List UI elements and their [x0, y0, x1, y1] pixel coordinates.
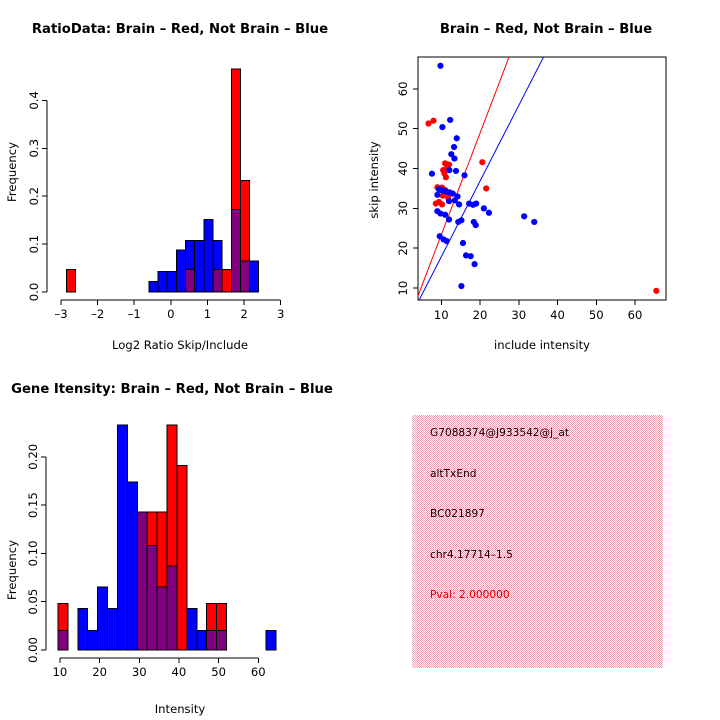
info-event-type: altTxEnd [430, 468, 476, 480]
info-accession: BC021897 [430, 508, 485, 520]
gene-histogram-title: Gene Itensity: Brain – Red, Not Brain – … [11, 382, 333, 397]
figure-canvas: RatioData: Brain – Red, Not Brain – Blue… [0, 0, 720, 720]
scatter-point [653, 288, 659, 294]
scatter-point [451, 144, 457, 150]
gene-histogram-ylabel: Frequency [5, 540, 19, 600]
panel-scatter: Brain – Red, Not Brain – Blue 1020304050… [360, 0, 720, 360]
y-axis-tick-label: 0.10 [26, 540, 40, 566]
y-axis-tick-label: 40 [396, 161, 410, 176]
histogram-bar [177, 466, 187, 650]
scatter-point [479, 159, 485, 165]
histogram-bar [157, 512, 167, 587]
scatter-point [456, 201, 462, 207]
histogram-bar-overlap [157, 587, 167, 650]
histogram-bar [108, 608, 118, 650]
histogram-bar-overlap [147, 546, 157, 650]
x-axis-tick-label: 0 [167, 307, 174, 321]
x-axis-tick-label: 40 [550, 308, 565, 322]
histogram-bar-overlap [217, 631, 227, 650]
scatter-point [481, 205, 487, 211]
x-axis-tick-label: 3 [277, 307, 284, 321]
histogram-bar [222, 270, 231, 292]
histogram-bar [204, 220, 213, 292]
histogram-bar [195, 240, 204, 292]
scatter-points [425, 63, 659, 294]
scatter-point [446, 161, 452, 167]
info-panel-background [412, 415, 663, 668]
x-axis-tick-label: 40 [172, 665, 187, 679]
x-axis-tick-label: 10 [434, 308, 449, 322]
histogram-bar-overlap [185, 270, 194, 292]
x-axis-tick-label: 30 [132, 665, 147, 679]
scatter-point [437, 63, 443, 69]
scatter-point [460, 240, 466, 246]
x-axis-tick-label: 30 [511, 308, 526, 322]
scatter-point [444, 238, 450, 244]
histogram-bar-overlap [231, 210, 240, 292]
scatter-point [446, 167, 452, 173]
histogram-bar [149, 282, 158, 292]
histogram-bar [231, 69, 240, 209]
y-axis-tick-label: 0.15 [26, 492, 40, 518]
y-axis-tick-label: 0.2 [27, 187, 41, 205]
scatter-point [451, 155, 457, 161]
scatter-point [446, 216, 452, 222]
y-axis-tick-label: 0.3 [27, 139, 41, 157]
histogram-bar [158, 271, 167, 292]
scatter-point [471, 261, 477, 267]
gene-histogram-xlabel: Intensity [155, 702, 206, 716]
scatter-point [434, 192, 440, 198]
scatter-plot-frame [418, 57, 666, 300]
brain-fit-line [416, 57, 509, 300]
x-axis-tick-label: 20 [92, 665, 107, 679]
y-axis-tick-label: 0.05 [26, 589, 40, 615]
scatter-point [473, 200, 479, 206]
histogram-bar [187, 608, 197, 650]
info-pval: Pval: 2.000000 [430, 589, 510, 601]
histogram-bar [127, 482, 137, 650]
scatter-point [468, 253, 474, 259]
scatter-point [447, 117, 453, 123]
scatter-point [443, 174, 449, 180]
histogram-bar [88, 631, 98, 650]
histogram-bar [66, 270, 75, 292]
x-axis-tick-label: –1 [128, 307, 141, 321]
histogram-bar [167, 425, 177, 566]
histogram-bar [176, 250, 185, 292]
scatter-point [486, 210, 492, 216]
histogram-bar [98, 587, 108, 650]
histogram-bar [117, 425, 127, 650]
histogram-bar [217, 604, 227, 631]
x-axis-tick-label: 50 [589, 308, 604, 322]
x-axis-tick-label: 2 [240, 307, 247, 321]
histogram-bar [197, 631, 207, 650]
histogram-bar [213, 240, 222, 269]
scatter-title: Brain – Red, Not Brain – Blue [440, 22, 652, 37]
x-axis-tick-label: 1 [204, 307, 211, 321]
histogram-bar [58, 604, 68, 631]
scatter-point [458, 217, 464, 223]
x-axis-tick-label: 10 [53, 665, 68, 679]
x-axis-tick-label: –2 [91, 307, 104, 321]
scatter-point [454, 135, 460, 141]
y-axis-tick-label: 30 [396, 201, 410, 216]
histogram-bar [78, 608, 88, 650]
scatter-point [521, 213, 527, 219]
scatter-point [473, 222, 479, 228]
scatter-point [458, 283, 464, 289]
y-axis-tick-label: 0.20 [26, 444, 40, 470]
scatter-point [433, 200, 439, 206]
y-axis-tick-label: 0.00 [26, 637, 40, 663]
histogram-bar-overlap [137, 512, 147, 650]
panel-gene-histogram: Gene Itensity: Brain – Red, Not Brain – … [0, 360, 360, 720]
x-axis-tick-label: 60 [628, 308, 643, 322]
ratio-histogram-xlabel: Log2 Ratio Skip/Include [112, 338, 248, 352]
histogram-bar-overlap [167, 566, 177, 650]
y-axis-tick-label: 20 [396, 241, 410, 256]
histogram-bar [185, 240, 194, 269]
scatter-point [453, 168, 459, 174]
y-axis-tick-label: 0.0 [27, 283, 41, 301]
scatter-point [430, 118, 436, 124]
scatter-ylabel: skip intensity [367, 141, 381, 218]
panel-ratio-histogram: RatioData: Brain – Red, Not Brain – Blue… [0, 0, 360, 360]
histogram-bar-overlap [240, 261, 249, 292]
histogram-bar [240, 180, 249, 261]
ratio-histogram-title: RatioData: Brain – Red, Not Brain – Blue [32, 22, 328, 37]
scatter-point [483, 185, 489, 191]
histogram-bar [266, 631, 276, 650]
histogram-bar [207, 604, 217, 631]
y-axis-tick-label: 60 [396, 81, 410, 96]
panel-info: G7088374@J933542@j_at altTxEnd BC021897 … [360, 360, 720, 720]
y-axis-tick-label: 10 [396, 281, 410, 296]
scatter-point [446, 198, 452, 204]
ratio-histogram-bars [66, 69, 258, 292]
histogram-bar [147, 512, 157, 546]
histogram-bar [167, 271, 176, 292]
gene-histogram-bars [58, 425, 276, 650]
scatter-point [439, 201, 445, 207]
y-axis-tick-label: 50 [396, 121, 410, 136]
scatter-fit-lines [416, 57, 543, 300]
info-probe-id: G7088374@J933542@j_at [430, 427, 569, 439]
not-brain-fit-line [419, 57, 543, 300]
histogram-bar-overlap [213, 270, 222, 292]
histogram-bar [250, 261, 259, 292]
scatter-point [439, 124, 445, 130]
x-axis-tick-label: 60 [251, 665, 266, 679]
x-axis-tick-label: –3 [54, 307, 67, 321]
scatter-point [429, 171, 435, 177]
ratio-histogram-ylabel: Frequency [5, 142, 19, 202]
x-axis-tick-label: 50 [211, 665, 226, 679]
scatter-point [531, 219, 537, 225]
scatter-xlabel: include intensity [494, 338, 590, 352]
y-axis-tick-label: 0.1 [27, 235, 41, 253]
x-axis-tick-label: 20 [473, 308, 488, 322]
info-locus: chr4.17714–1.5 [430, 549, 513, 561]
scatter-axes: 102030405060102030405060 [396, 81, 642, 322]
y-axis-tick-label: 0.4 [27, 91, 41, 109]
histogram-bar-overlap [207, 631, 217, 650]
scatter-point [461, 172, 467, 178]
scatter-point [442, 212, 448, 218]
histogram-bar-overlap [58, 631, 68, 650]
